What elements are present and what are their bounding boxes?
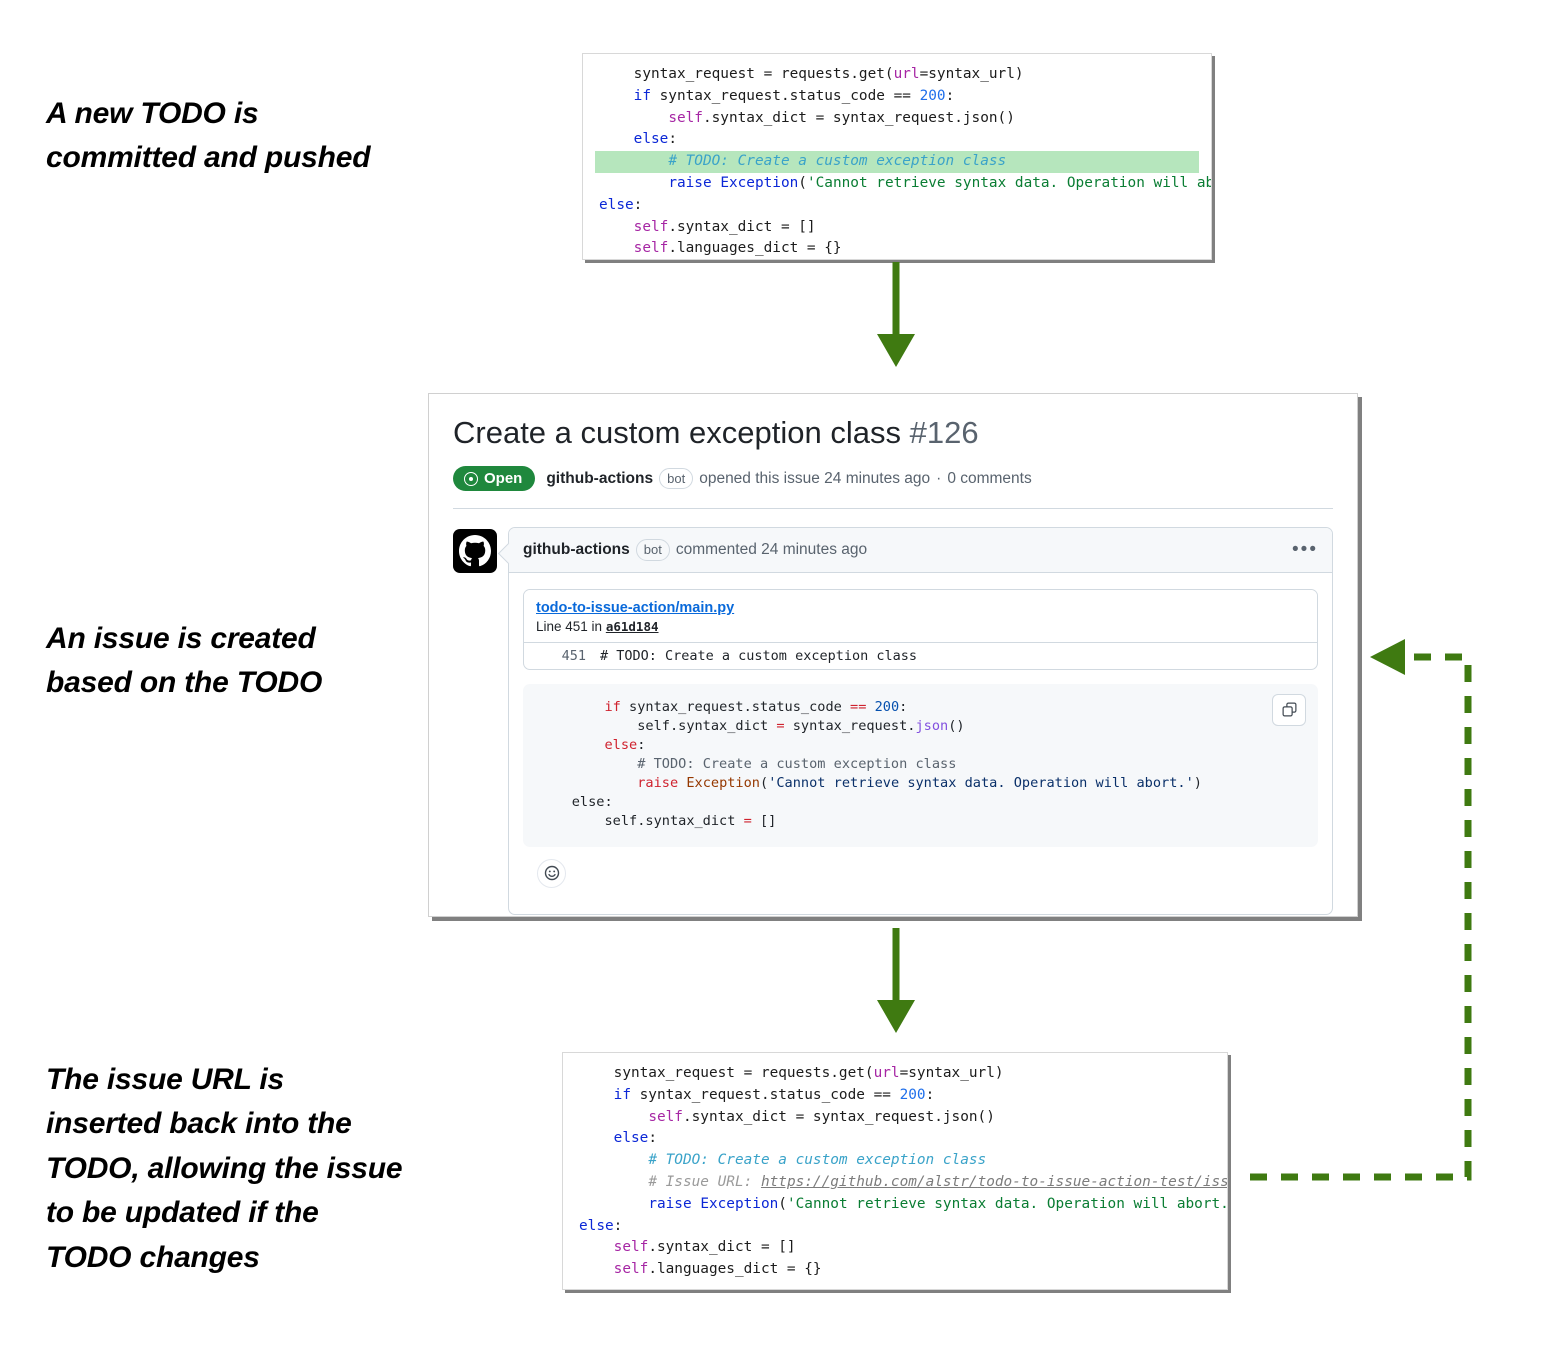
code-line: else:	[595, 195, 1199, 217]
issue-header: Create a custom exception class #126 Ope…	[429, 394, 1357, 491]
issue-author[interactable]: github-actions	[546, 470, 653, 488]
comment-author[interactable]: github-actions	[523, 541, 630, 559]
comment-bot-badge: bot	[636, 539, 670, 561]
arrow-down-middle	[855, 928, 945, 1038]
issue-opened-text: opened this issue 24 minutes ago	[699, 470, 930, 488]
code-block-before: syntax_request = requests.get(url=syntax…	[595, 64, 1199, 260]
code-line: if syntax_request.status_code == 200:	[595, 86, 1199, 108]
line-prefix-label: Line 451 in	[536, 619, 602, 634]
code-line: else:	[575, 1128, 1215, 1150]
comment-byline: github-actions bot commented 24 minutes …	[523, 539, 867, 561]
caption-step-3: The issue URL is inserted back into the …	[46, 1058, 406, 1280]
code-line-todo-highlight: # TODO: Create a custom exception class	[595, 151, 1199, 173]
code-line-issue-url: # Issue URL: https://github.com/alstr/to…	[575, 1172, 1215, 1194]
file-path-link[interactable]: todo-to-issue-action/main.py	[536, 600, 734, 616]
arrow-feedback-loop	[1180, 620, 1540, 1200]
code-line: if syntax_request.status_code == 200:	[575, 1085, 1215, 1107]
github-mark-icon	[459, 535, 491, 567]
kebab-menu-icon[interactable]: •••	[1292, 540, 1318, 559]
smiley-icon	[544, 865, 560, 881]
code-line: self.syntax_dict = syntax_request.json()	[575, 1107, 1215, 1129]
code-line: self.syntax_dict = []	[595, 217, 1199, 239]
add-reaction-button[interactable]	[537, 859, 566, 888]
line-number: 451	[524, 648, 600, 664]
code-card-before: syntax_request = requests.get(url=syntax…	[582, 53, 1212, 260]
code-line: else:	[595, 129, 1199, 151]
code-card-after: syntax_request = requests.get(url=syntax…	[562, 1052, 1228, 1290]
comment-timestamp: commented 24 minutes ago	[676, 541, 867, 559]
meta-separator: ·	[936, 470, 941, 488]
issue-byline: github-actions bot opened this issue 24 …	[546, 468, 1031, 490]
diagram-canvas: A new TODO is committed and pushed An is…	[0, 0, 1543, 1351]
status-badge-label: Open	[484, 471, 522, 486]
issue-number: #126	[910, 415, 979, 450]
issue-open-icon	[464, 472, 478, 486]
status-badge-open[interactable]: Open	[453, 466, 535, 491]
caption-step-1: A new TODO is committed and pushed	[46, 92, 376, 181]
code-line: raise Exception('Cannot retrieve syntax …	[595, 173, 1199, 195]
issue-title-row: Create a custom exception class #126	[453, 414, 1333, 451]
code-line: syntax_request = requests.get(url=syntax…	[575, 1063, 1215, 1085]
avatar[interactable]	[453, 529, 497, 573]
code-line: # TODO: Create a custom exception class	[575, 1150, 1215, 1172]
commit-sha-link[interactable]: a61d184	[606, 619, 659, 634]
issue-comment-count: 0 comments	[947, 470, 1031, 488]
issue-title-text: Create a custom exception class	[453, 415, 901, 450]
line-content: # TODO: Create a custom exception class	[600, 648, 917, 664]
code-line: self.syntax_dict = syntax_request.json()	[595, 108, 1199, 130]
arrow-down-top	[855, 262, 945, 372]
code-block-after: syntax_request = requests.get(url=syntax…	[575, 1063, 1215, 1281]
code-line: self.languages_dict = {}	[575, 1259, 1215, 1281]
code-line: self.syntax_dict = []	[575, 1237, 1215, 1259]
code-line: syntax_request = requests.get(url=syntax…	[595, 64, 1199, 86]
code-line: self.languages_dict = {}	[595, 238, 1199, 260]
issue-meta-row: Open github-actions bot opened this issu…	[453, 466, 1333, 491]
issue-url-link[interactable]: https://github.com/alstr/todo-to-issue-a…	[761, 1174, 1228, 1190]
caption-step-2: An issue is created based on the TODO	[46, 617, 391, 706]
comment-header: github-actions bot commented 24 minutes …	[509, 528, 1332, 573]
code-line: raise Exception('Cannot retrieve syntax …	[575, 1194, 1215, 1216]
code-line: else:	[575, 1216, 1215, 1238]
bot-badge: bot	[659, 468, 693, 490]
